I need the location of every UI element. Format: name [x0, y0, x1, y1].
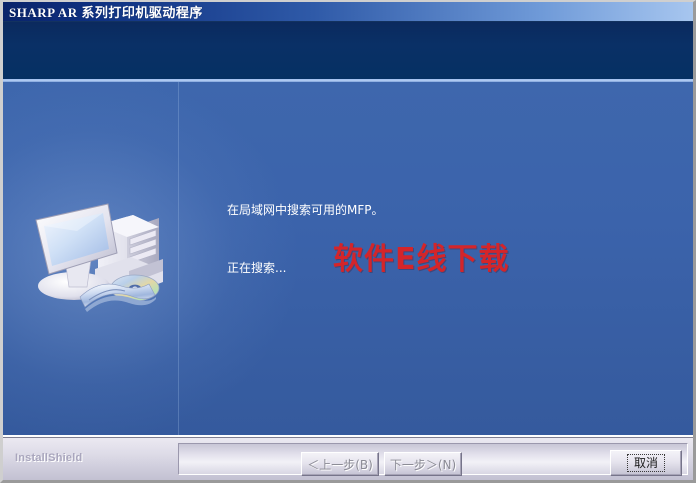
window-title: SHARP AR 系列打印机驱动程序: [3, 2, 203, 21]
installshield-brand-label: InstallShield: [15, 452, 82, 464]
cancel-button-label: 取消: [627, 454, 665, 472]
cancel-button[interactable]: 取消: [610, 450, 682, 476]
back-button[interactable]: ＜上一步(B): [301, 452, 379, 476]
next-button[interactable]: 下一步＞(N): [384, 452, 462, 476]
panel-divider: [178, 82, 179, 435]
wizard-window: SHARP AR 系列打印机驱动程序: [0, 0, 696, 483]
computer-monitor-tower-cd-illustration: [25, 187, 175, 317]
installer-window-root: SHARP AR 系列打印机驱动程序: [0, 0, 696, 483]
search-prompt-text: 在局域网中搜索可用的MFP。: [227, 201, 384, 218]
wizard-body: 在局域网中搜索可用的MFP。 正在搜索... 软件E线下载: [3, 82, 693, 435]
header-banner: [3, 21, 693, 79]
searching-status-text: 正在搜索...: [227, 259, 286, 276]
title-bar: SHARP AR 系列打印机驱动程序: [3, 2, 693, 21]
watermark-text: 软件E线下载: [333, 234, 510, 278]
footer-top-divider: [3, 437, 693, 438]
